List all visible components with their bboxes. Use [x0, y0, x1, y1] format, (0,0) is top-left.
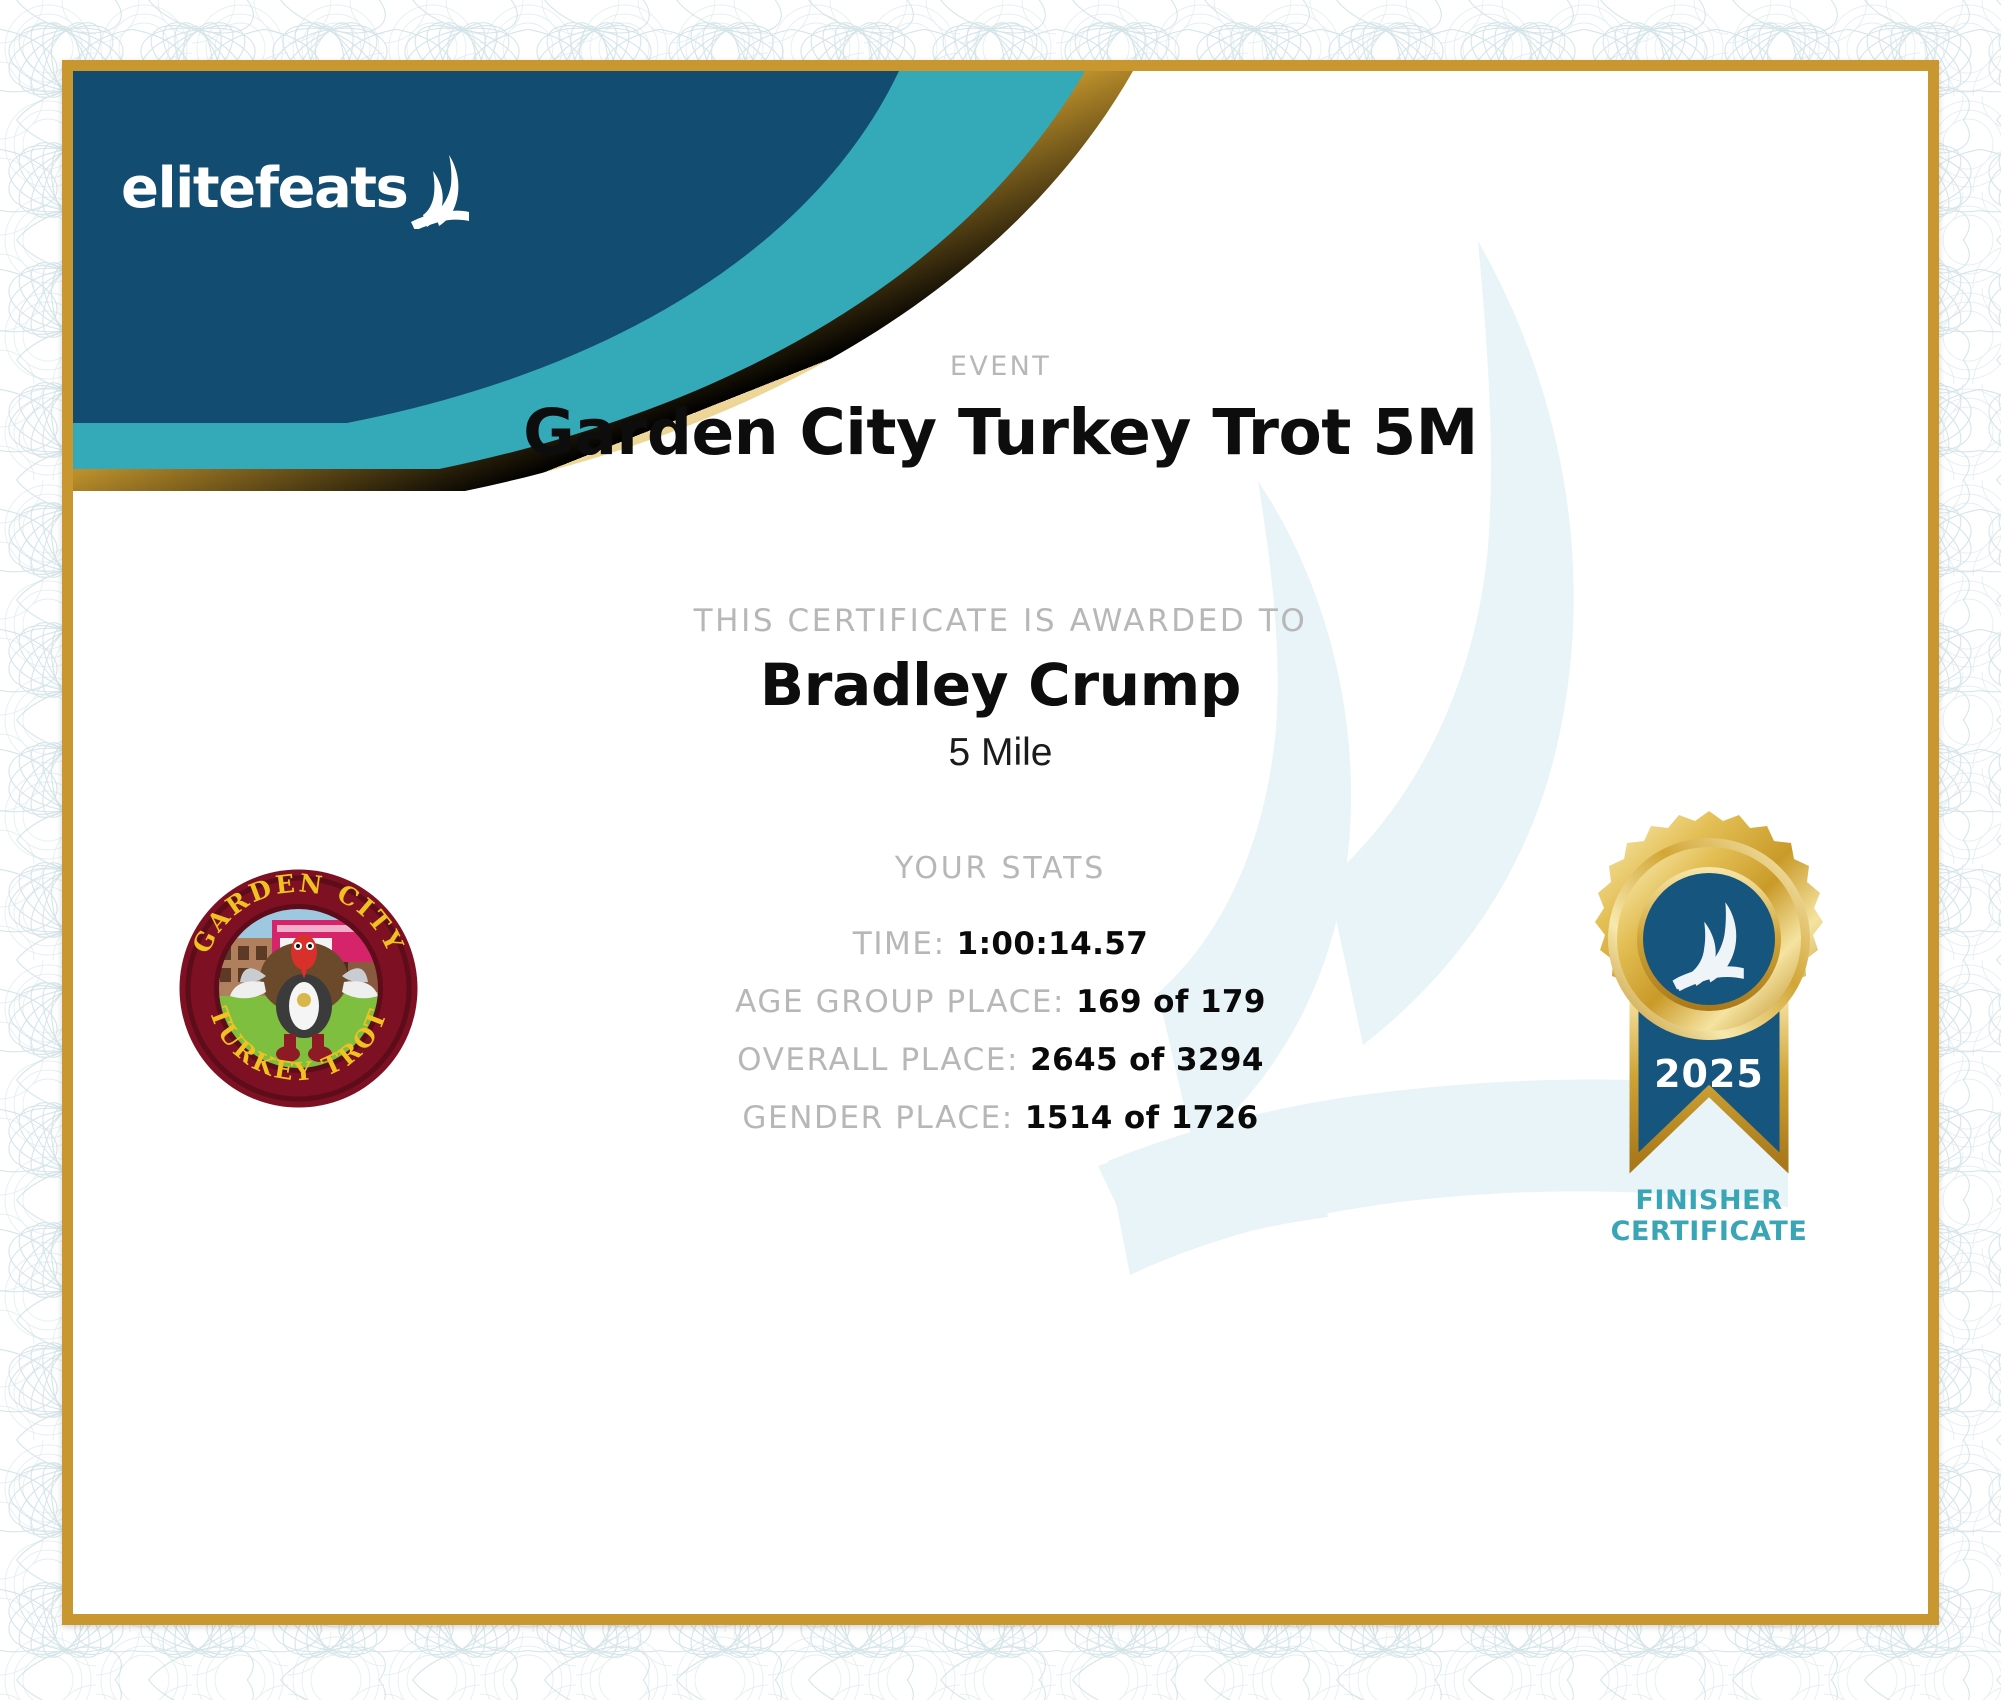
stat-value: 1514 of 1726 [1025, 1100, 1259, 1136]
stat-key: GENDER PLACE: [742, 1100, 1013, 1136]
winged-foot-icon [409, 153, 471, 229]
gold-award-medal-icon: 2025 [1564, 791, 1854, 1191]
stat-value: 2645 of 3294 [1030, 1042, 1264, 1078]
medal-caption: FINISHER CERTIFICATE [1564, 1185, 1854, 1247]
recipient-name: Bradley Crump [73, 651, 1928, 719]
race-distance: 5 Mile [73, 731, 1928, 775]
turkey-trot-seal-icon: GARDEN CITY TURKEY TROT [176, 866, 421, 1111]
stat-key: TIME: [853, 926, 946, 962]
brand-name: elitefeats [121, 161, 407, 217]
stat-value: 1:00:14.57 [957, 926, 1149, 962]
stat-key: OVERALL PLACE: [737, 1042, 1019, 1078]
medal-year: 2025 [1654, 1052, 1764, 1096]
medal-caption-line1: FINISHER [1564, 1185, 1854, 1216]
awarded-to-label: THIS CERTIFICATE IS AWARDED TO [73, 603, 1928, 639]
stat-value: 169 of 179 [1076, 984, 1266, 1020]
certificate-card: elitefeats EVENT Garden City Turkey Trot… [62, 60, 1939, 1625]
finisher-medal: 2025 FINISHER CERTIFICATE [1564, 791, 1854, 1271]
stat-key: AGE GROUP PLACE: [735, 984, 1065, 1020]
brand-logo: elitefeats [121, 149, 471, 229]
event-label: EVENT [73, 351, 1928, 382]
medal-caption-line2: CERTIFICATE [1564, 1216, 1854, 1247]
event-title: Garden City Turkey Trot 5M [73, 396, 1928, 469]
